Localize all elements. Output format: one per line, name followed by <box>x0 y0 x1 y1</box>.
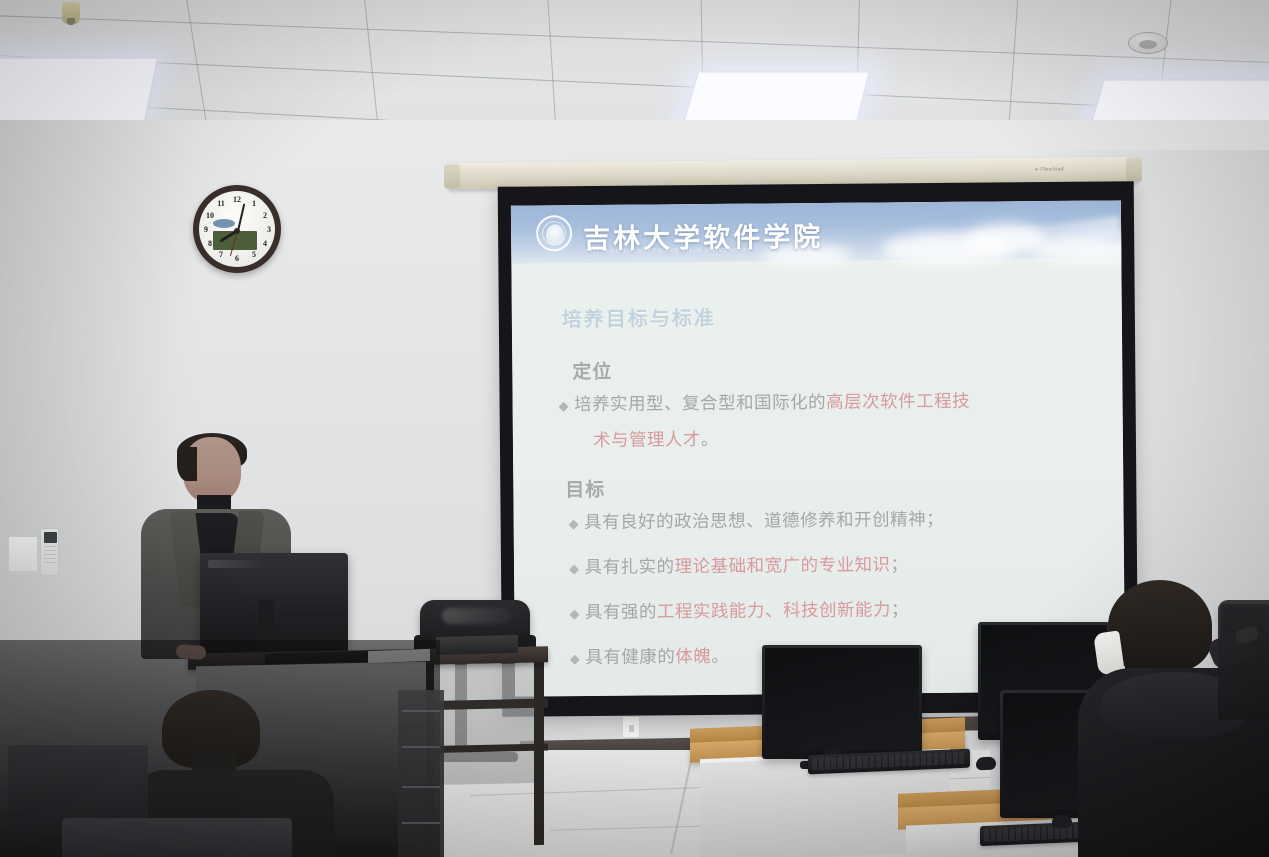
presenter-monitor <box>200 553 348 653</box>
monitor-screen <box>765 648 919 750</box>
roller-brand-text: e-Flexiload <box>1035 166 1064 172</box>
clock-brand-logo <box>213 219 235 228</box>
bullet-plain-text: 具有强的 <box>585 602 657 623</box>
clock-numeral: 9 <box>200 225 212 234</box>
podium-leg <box>534 660 544 845</box>
slide-bullet-goal-1: ◆具有良好的政治思想、道德修养和开创精神； <box>569 506 945 534</box>
clock-minute-hand <box>237 203 245 231</box>
slide-title: 培养目标与标准 <box>562 302 716 332</box>
bullet-highlight-text: 理论基础和宽广的专业知识 <box>674 555 890 577</box>
light-switch-plate[interactable] <box>8 536 38 572</box>
sprinkler-head <box>62 2 80 24</box>
pc-tower-rack <box>398 690 444 857</box>
clock-numeral: 5 <box>248 250 260 259</box>
presenter-hair-side <box>177 447 197 481</box>
bullet-tail-text: 。 <box>711 647 729 667</box>
clock-numeral: 6 <box>231 254 243 263</box>
bullet-highlight-text: 高层次软件工程技 <box>826 392 970 413</box>
chair-highlight <box>442 608 512 624</box>
bullet-highlight-text: 体魄 <box>675 647 711 667</box>
mouse[interactable] <box>1052 815 1072 828</box>
clock-numeral: 12 <box>231 195 243 204</box>
bullet-diamond-icon: ◆ <box>570 652 581 667</box>
mouse[interactable] <box>976 757 996 771</box>
bullet-plain-text-cont: 。 <box>701 430 719 450</box>
slide-section-heading-positioning: 定位 <box>572 357 612 384</box>
monitor <box>62 818 292 857</box>
seal-inner-ring <box>542 221 566 245</box>
slide-bullet-goal-4: ◆具有健康的体魄。 <box>570 643 730 669</box>
bullet-tail-text: ； <box>891 600 909 620</box>
slide-bullet-positioning: ◆培养实用型、复合型和国际化的高层次软件工程技 <box>558 388 970 417</box>
monitor <box>8 745 148 829</box>
clock-numeral: 1 <box>248 199 260 208</box>
clock-numeral: 4 <box>259 239 271 248</box>
monitor-port-strip <box>208 560 268 568</box>
air-conditioner-remote[interactable] <box>40 528 59 576</box>
clock-numeral: 2 <box>259 211 271 220</box>
bullet-diamond-icon: ◆ <box>569 607 580 622</box>
clock-numeral: 11 <box>215 199 227 208</box>
wall-power-outlet <box>622 716 640 738</box>
bullet-highlight-text: 工程实践能力、科技创新能力 <box>657 600 891 622</box>
monitor <box>762 645 922 759</box>
clock-numeral: 3 <box>263 225 275 234</box>
slide-bullet-positioning-cont: 术与管理人才。 <box>593 426 719 452</box>
bullet-plain-text: 具有健康的 <box>585 647 675 668</box>
bullet-diamond-icon: ◆ <box>569 517 580 532</box>
clock-numeral: 10 <box>204 211 216 220</box>
slide-banner: 吉林大学软件学院 COLLEGE OF SOFTWARE JILIN UNIVE… <box>511 200 1121 263</box>
bullet-plain-text: 培养实用型、复合型和国际化的 <box>574 393 826 415</box>
roller-cap-right <box>1126 158 1142 182</box>
bullet-highlight-text-cont: 术与管理人才 <box>593 430 701 451</box>
slide-bullet-goal-2: ◆具有扎实的理论基础和宽广的专业知识； <box>569 551 909 579</box>
student-hair <box>1108 580 1212 672</box>
classroom-photo-scene: 12 1 2 3 4 5 6 7 8 9 10 11 e-Flexiload <box>0 0 1269 857</box>
bullet-diamond-icon: ◆ <box>569 562 580 577</box>
bullet-plain-text: 具有良好的政治思想、道德修养和开创精神； <box>584 510 944 533</box>
desk-device <box>436 635 518 655</box>
slide-section-heading-goals: 目标 <box>565 475 605 502</box>
university-seal-logo <box>536 215 572 251</box>
slide-bullet-goal-3: ◆具有强的工程实践能力、科技创新能力； <box>569 596 909 624</box>
clock-center-pin <box>234 228 240 234</box>
bullet-diamond-icon: ◆ <box>559 399 570 414</box>
clock-numeral: 7 <box>215 250 227 259</box>
roller-cap-left <box>444 164 460 188</box>
clock-face: 12 1 2 3 4 5 6 7 8 9 10 11 <box>199 191 275 267</box>
bullet-tail-text: ； <box>890 555 908 575</box>
smoke-detector <box>1128 32 1168 54</box>
student-far-right <box>1218 600 1269 720</box>
wall-clock: 12 1 2 3 4 5 6 7 8 9 10 11 <box>193 185 281 273</box>
bullet-plain-text: 具有扎实的 <box>584 557 674 578</box>
